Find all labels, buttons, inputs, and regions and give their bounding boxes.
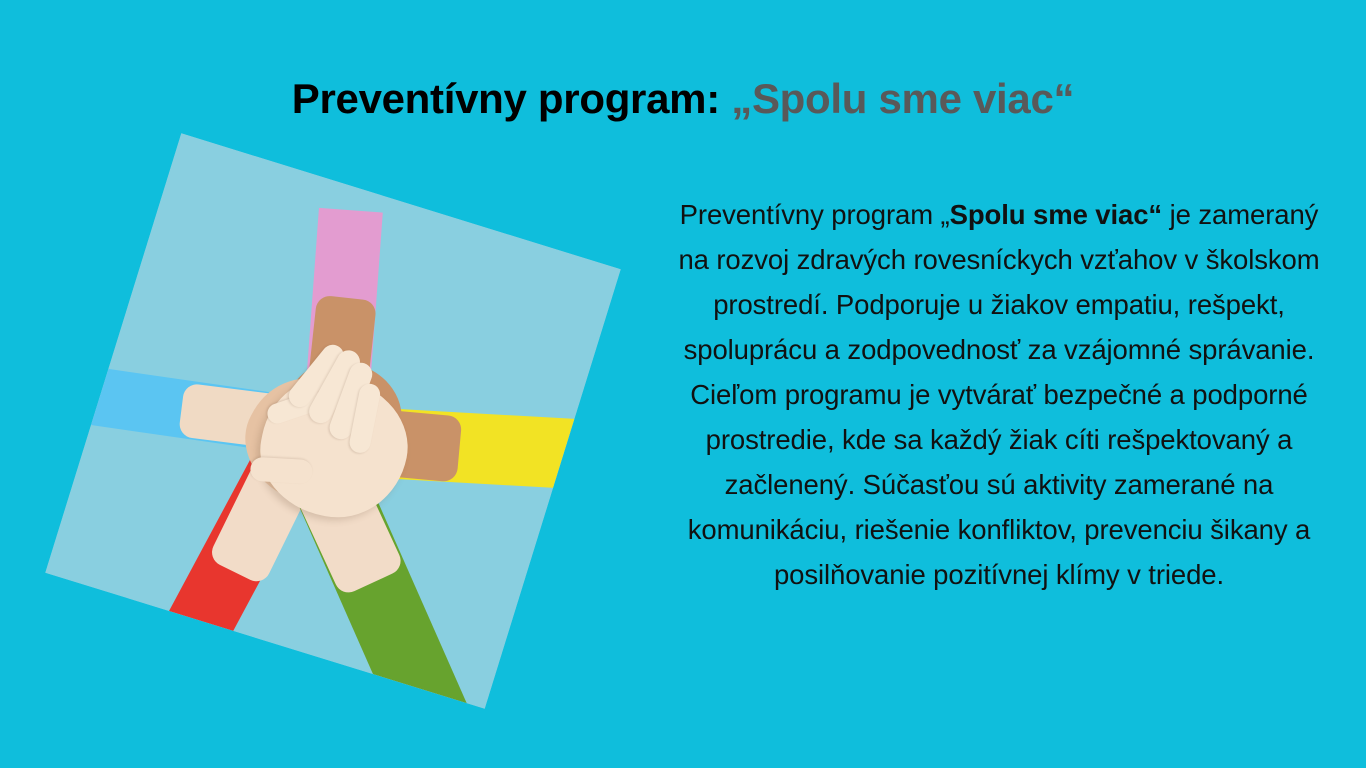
page-title: Preventívny program: „Spolu sme viac“ bbox=[0, 74, 1366, 124]
slide-canvas: Preventívny program: „Spolu sme viac“ bbox=[0, 0, 1366, 768]
body-lead: Preventívny program „ bbox=[680, 199, 950, 230]
body-paragraph: Preventívny program „Spolu sme viac“ je … bbox=[663, 192, 1335, 597]
page-title-accent: „Spolu sme viac“ bbox=[731, 75, 1074, 122]
hands-together-image bbox=[45, 133, 620, 708]
body-rest: je zameraný na rozvoj zdravých rovesníck… bbox=[678, 199, 1319, 590]
page-title-main: Preventívny program: bbox=[292, 75, 732, 122]
body-program-name: Spolu sme viac“ bbox=[950, 199, 1162, 230]
thumb bbox=[250, 457, 313, 484]
image-inner-canvas bbox=[45, 133, 620, 708]
